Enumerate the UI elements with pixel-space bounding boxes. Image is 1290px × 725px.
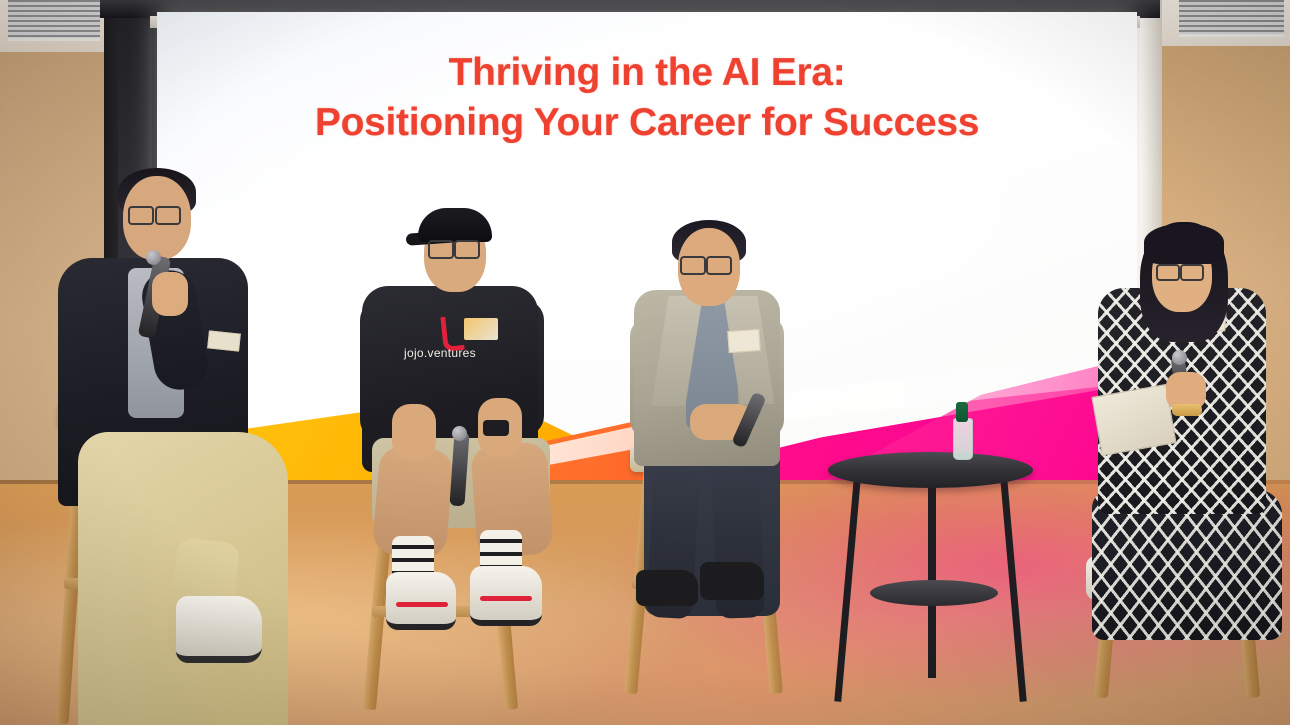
panelist-1-pocket-square xyxy=(207,330,241,351)
side-table-top xyxy=(828,452,1033,488)
microphone-4-head-icon xyxy=(1172,350,1187,365)
wristwatch-icon xyxy=(483,420,509,436)
panelist-1-shoe xyxy=(176,596,262,663)
bottle-body xyxy=(953,418,973,460)
side-table-lower-shelf xyxy=(870,580,998,606)
panelist-3-left-shoe xyxy=(636,570,698,606)
slide-title: Thriving in the AI Era: Positioning Your… xyxy=(157,48,1137,148)
slide-title-line-2: Positioning Your Career for Success xyxy=(157,98,1137,148)
bottle-cap-icon xyxy=(956,402,968,422)
panelist-1-hand xyxy=(152,272,188,316)
ceiling-air-vent-right-icon xyxy=(1179,0,1284,37)
microphone-head-icon xyxy=(146,250,161,265)
bracelet-icon xyxy=(1172,404,1202,416)
panelist-2-left-forearm xyxy=(392,404,436,460)
panelist-2-left-shoe xyxy=(386,572,456,630)
microphone-2-head-icon xyxy=(452,426,467,441)
jojo-wordmark: jojo.ventures xyxy=(404,346,476,360)
conference-panel-photo: Thriving in the AI Era: Positioning Your… xyxy=(0,0,1290,725)
ceiling-air-vent-icon xyxy=(8,0,100,41)
panelist-4-fringe xyxy=(1144,224,1224,264)
baseball-cap-icon xyxy=(418,208,492,242)
side-table xyxy=(828,452,1033,682)
panelist-2-right-shoe xyxy=(470,566,542,626)
panelist-3-name-badge xyxy=(727,329,760,353)
water-bottle xyxy=(953,402,971,458)
slide-title-line-1: Thriving in the AI Era: xyxy=(449,51,846,94)
jojo-logo-patch xyxy=(464,318,498,340)
jojo-ventures-logo: jojo.ventures xyxy=(404,316,500,366)
panelist-3-right-shoe xyxy=(700,562,764,600)
